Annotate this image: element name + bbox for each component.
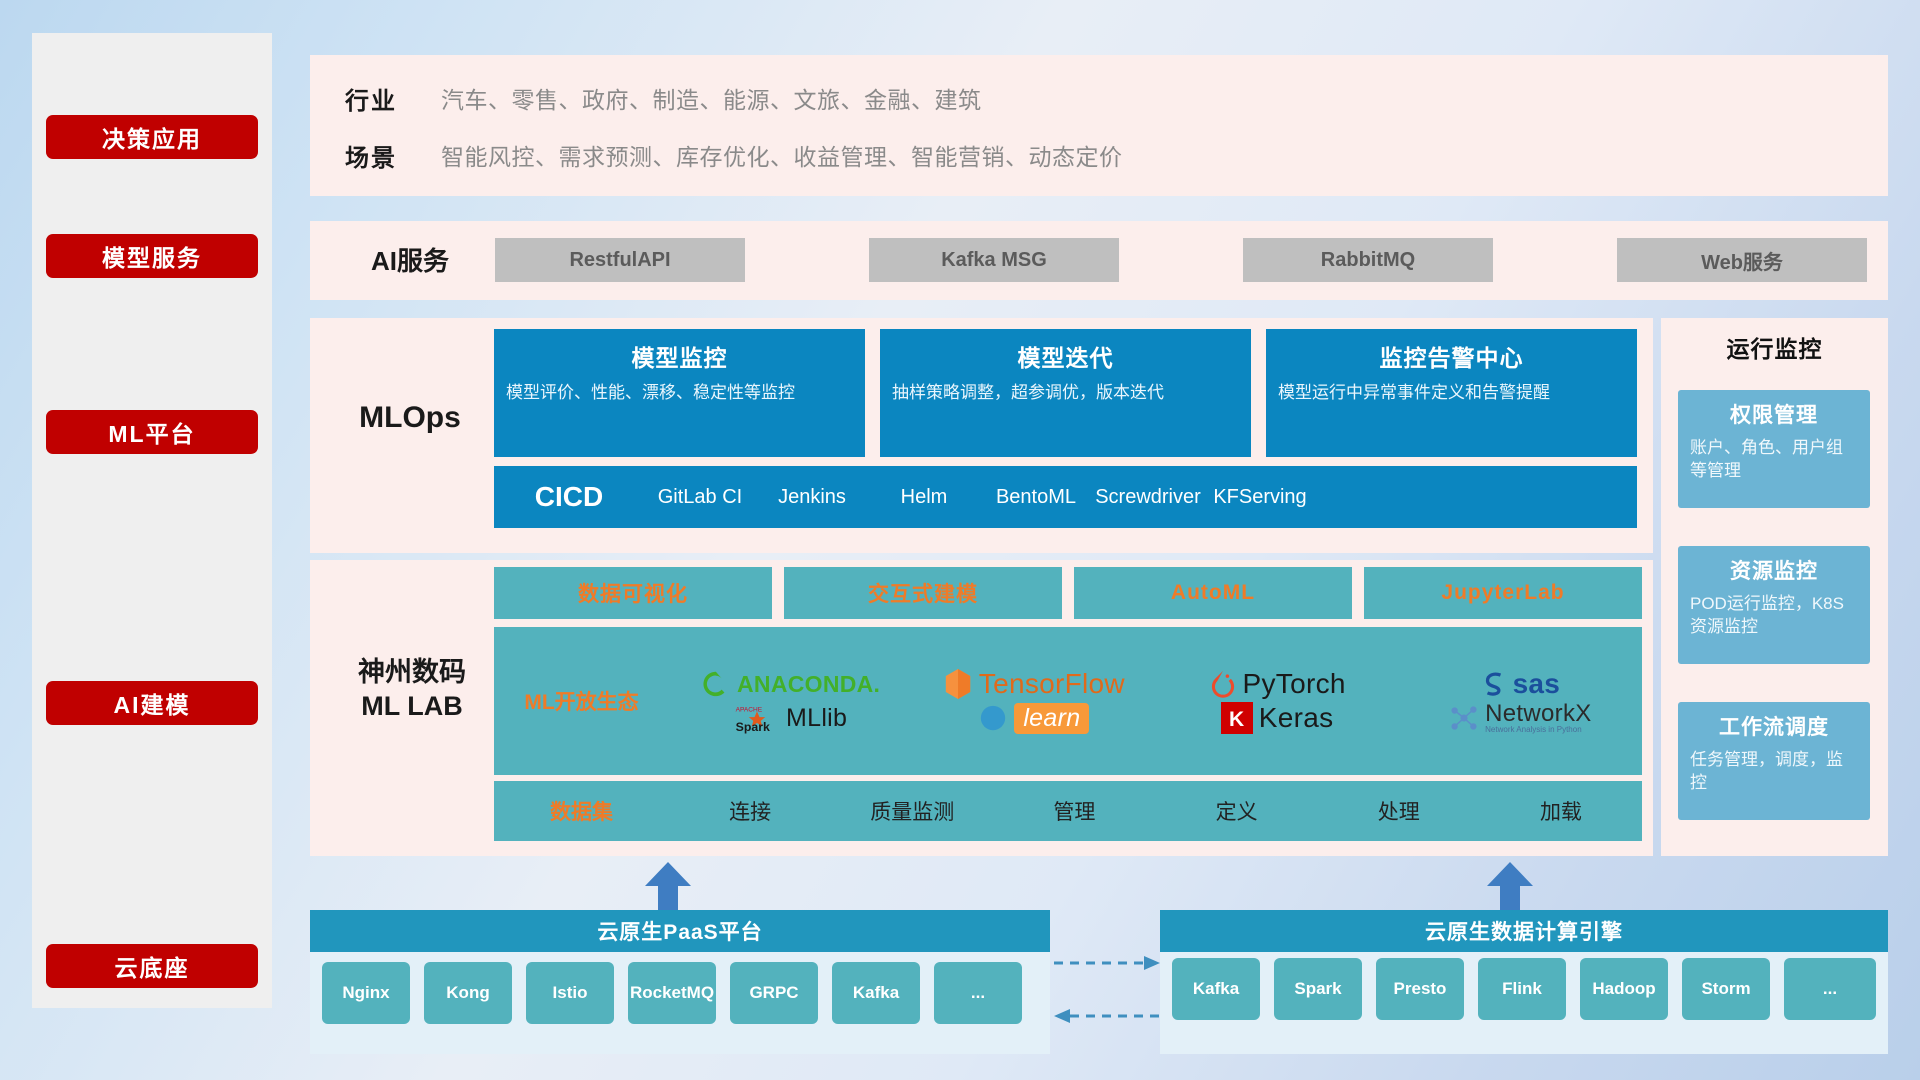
card-title: 模型监控 — [506, 339, 853, 373]
card-desc: 抽样策略调整，超参调优，版本迭代 — [892, 382, 1239, 405]
tier-label: AI建模 — [114, 686, 191, 720]
cube-label: Flink — [1502, 980, 1542, 998]
cube-label: Kong — [446, 984, 489, 1002]
mlops-card-alert-center[interactable]: 监控告警中心 模型运行中异常事件定义和告警提醒 — [1266, 329, 1637, 457]
tier-label: ML平台 — [108, 415, 195, 449]
chip-label: JupyterLab — [1441, 581, 1564, 605]
ai-service-chip-web[interactable]: Web服务 — [1617, 238, 1867, 282]
engine-cube-more[interactable]: ... — [1784, 958, 1876, 1020]
svg-text:APACHE: APACHE — [736, 706, 763, 713]
paas-cube-kafka[interactable]: Kafka — [832, 962, 920, 1024]
arrow-up-engine-icon — [1487, 862, 1533, 914]
monitoring-card-workflow[interactable]: 工作流调度 任务管理，调度，监控 — [1678, 702, 1870, 820]
cube-label: GRPC — [749, 984, 798, 1002]
logo-grid: ANACONDA. TensorFlow PyTorch — [669, 667, 1642, 735]
engine-cube-spark[interactable]: Spark — [1274, 958, 1362, 1020]
tier-chip-decision[interactable]: 决策应用 — [46, 115, 258, 159]
monitoring-title: 运行监控 — [1661, 330, 1888, 364]
diagram-canvas: 决策应用 模型服务 ML平台 AI建模 云底座 行业 汽车、零售、政府、制造、能… — [0, 0, 1920, 1080]
monitoring-card-permissions[interactable]: 权限管理 账户、角色、用户组等管理 — [1678, 390, 1870, 508]
networkx-logo: NetworkX Network Analysis in Python — [1399, 702, 1642, 734]
dataset-item-load[interactable]: 加载 — [1480, 796, 1642, 826]
paas-cube-istio[interactable]: Istio — [526, 962, 614, 1024]
card-title: 权限管理 — [1690, 399, 1858, 429]
pytorch-logo: PyTorch — [1156, 668, 1399, 700]
mlops-card-model-iteration[interactable]: 模型迭代 抽样策略调整，超参调优，版本迭代 — [880, 329, 1251, 457]
chip-label: 交互式建模 — [868, 578, 978, 608]
svg-text:K: K — [1229, 708, 1244, 731]
card-desc: 任务管理，调度，监控 — [1690, 749, 1858, 795]
tier-chip-ml-platform[interactable]: ML平台 — [46, 410, 258, 454]
ml-ecosystem-panel: ML开放生态 ANACONDA. TensorFlow — [494, 627, 1642, 775]
tensorflow-logo: TensorFlow — [912, 668, 1155, 700]
engine-cube-flink[interactable]: Flink — [1478, 958, 1566, 1020]
keras-logo: K Keras — [1156, 702, 1399, 734]
tool-chip-automl[interactable]: AutoML — [1074, 567, 1352, 619]
networkx-tagline: Network Analysis in Python — [1485, 726, 1591, 734]
scikit-learn-logo: learn — [912, 703, 1155, 734]
cube-label: Hadoop — [1592, 980, 1655, 998]
card-desc: 账户、角色、用户组等管理 — [1690, 437, 1858, 483]
cicd-item-helm[interactable]: Helm — [868, 487, 980, 507]
pytorch-mark-icon — [1209, 669, 1237, 699]
dataset-label: 数据集 — [494, 796, 669, 826]
cicd-item-jenkins[interactable]: Jenkins — [756, 487, 868, 507]
logo-text: NetworkX — [1485, 702, 1591, 726]
cicd-label: CICD — [494, 481, 644, 513]
card-title: 监控告警中心 — [1278, 339, 1625, 373]
card-title: 模型迭代 — [892, 339, 1239, 373]
mlops-card-model-monitoring[interactable]: 模型监控 模型评价、性能、漂移、稳定性等监控 — [494, 329, 865, 457]
paas-header: 云原生PaaS平台 — [310, 910, 1050, 952]
dashed-arrow-left-icon — [1052, 1005, 1162, 1027]
business-key: 行业 — [345, 81, 441, 116]
scikit-mark-icon — [978, 703, 1008, 733]
paas-cube-grpc[interactable]: GRPC — [730, 962, 818, 1024]
chip-label: RestfulAPI — [569, 249, 670, 272]
arrow-up-paas-icon — [645, 862, 691, 914]
logo-text: Keras — [1259, 702, 1334, 734]
chip-label: Kafka MSG — [941, 249, 1047, 272]
cicd-item-gitlab-ci[interactable]: GitLab CI — [644, 487, 756, 507]
spark-mark-icon: APACHE Spark — [734, 701, 780, 735]
tool-chip-interactive-modeling[interactable]: 交互式建模 — [784, 567, 1062, 619]
keras-mark-icon: K — [1221, 702, 1253, 734]
business-key: 场景 — [345, 138, 441, 173]
ai-service-chip-restfulapi[interactable]: RestfulAPI — [495, 238, 745, 282]
card-title: 资源监控 — [1690, 555, 1858, 585]
tool-chip-data-visualization[interactable]: 数据可视化 — [494, 567, 772, 619]
card-title: 工作流调度 — [1690, 711, 1858, 741]
tier-label: 决策应用 — [102, 120, 202, 154]
tier-chip-cloud-base[interactable]: 云底座 — [46, 944, 258, 988]
cube-label: Presto — [1394, 980, 1447, 998]
chip-label: Web服务 — [1701, 246, 1783, 275]
card-desc: POD运行监控，K8S资源监控 — [1690, 593, 1858, 639]
monitoring-card-resources[interactable]: 资源监控 POD运行监控，K8S资源监控 — [1678, 546, 1870, 664]
cicd-item-bentoml[interactable]: BentoML — [980, 487, 1092, 507]
paas-cube-rocketmq[interactable]: RocketMQ — [628, 962, 716, 1024]
paas-title: 云原生PaaS平台 — [597, 916, 762, 946]
sas-mark-icon — [1481, 670, 1507, 698]
dataset-item-process[interactable]: 处理 — [1318, 796, 1480, 826]
logo-text: learn — [1014, 703, 1089, 734]
ai-service-chip-rabbitmq[interactable]: RabbitMQ — [1243, 238, 1493, 282]
card-desc: 模型评价、性能、漂移、稳定性等监控 — [506, 382, 853, 405]
tier-label: 模型服务 — [102, 239, 202, 273]
paas-cube-more[interactable]: ... — [934, 962, 1022, 1024]
logo-text: ANACONDA. — [737, 671, 880, 698]
cicd-item-kfserving[interactable]: KFServing — [1204, 487, 1316, 507]
engine-cube-kafka[interactable]: Kafka — [1172, 958, 1260, 1020]
ai-service-label: AI服务 — [330, 238, 490, 284]
mlops-label: MLOps — [330, 395, 490, 441]
tier-chip-ai-modeling[interactable]: AI建模 — [46, 681, 258, 725]
dataset-item-define[interactable]: 定义 — [1156, 796, 1318, 826]
logo-text: PyTorch — [1243, 668, 1346, 700]
chip-label: AutoML — [1171, 581, 1255, 605]
tensorflow-mark-icon — [943, 668, 973, 700]
engine-cube-storm[interactable]: Storm — [1682, 958, 1770, 1020]
business-row-industry: 行业 汽车、零售、政府、制造、能源、文旅、金融、建筑 — [345, 76, 1845, 120]
tool-chip-jupyterlab[interactable]: JupyterLab — [1364, 567, 1642, 619]
tier-label: 云底座 — [115, 949, 190, 983]
networkx-mark-icon — [1449, 703, 1479, 733]
spark-mllib-logo: APACHE Spark MLlib — [669, 701, 912, 735]
chip-label: RabbitMQ — [1321, 249, 1415, 272]
ml-ecosystem-label: ML开放生态 — [494, 686, 669, 716]
dataset-row: 数据集 连接 质量监测 管理 定义 处理 加载 — [494, 781, 1642, 841]
engine-cube-hadoop[interactable]: Hadoop — [1580, 958, 1668, 1020]
business-value: 汽车、零售、政府、制造、能源、文旅、金融、建筑 — [441, 81, 982, 115]
modeling-label-line2: ML LAB — [361, 690, 463, 724]
sas-logo: sas — [1399, 668, 1642, 700]
anaconda-mark-icon — [701, 669, 731, 699]
tier-chip-model-service[interactable]: 模型服务 — [46, 234, 258, 278]
cube-label: Kafka — [853, 984, 899, 1002]
tier-rail — [32, 33, 272, 1008]
paas-cube-kong[interactable]: Kong — [424, 962, 512, 1024]
dataset-item-quality-monitor[interactable]: 质量监测 — [831, 796, 993, 826]
anaconda-logo: ANACONDA. — [669, 669, 912, 699]
cube-label: Spark — [1294, 980, 1341, 998]
paas-cube-nginx[interactable]: Nginx — [322, 962, 410, 1024]
ai-service-chip-kafka-msg[interactable]: Kafka MSG — [869, 238, 1119, 282]
engine-title: 云原生数据计算引擎 — [1425, 916, 1623, 946]
modeling-label-line1: 神州数码 — [358, 656, 466, 690]
cube-label: ... — [971, 984, 985, 1002]
card-desc: 模型运行中异常事件定义和告警提醒 — [1278, 382, 1625, 405]
cicd-row[interactable]: CICD GitLab CI Jenkins Helm BentoML Scre… — [494, 466, 1637, 528]
logo-text: TensorFlow — [979, 668, 1125, 700]
chip-label: 数据可视化 — [578, 578, 688, 608]
engine-cube-presto[interactable]: Presto — [1376, 958, 1464, 1020]
dashed-arrow-right-icon — [1052, 952, 1162, 974]
logo-text: MLlib — [786, 704, 847, 733]
logo-text: sas — [1513, 668, 1561, 700]
modeling-label: 神州数码 ML LAB — [322, 655, 502, 725]
svg-text:Spark: Spark — [736, 720, 770, 734]
dataset-item-manage[interactable]: 管理 — [993, 796, 1155, 826]
dataset-item-connect[interactable]: 连接 — [669, 796, 831, 826]
cube-label: Storm — [1701, 980, 1750, 998]
cube-label: ... — [1823, 980, 1837, 998]
cube-label: Kafka — [1193, 980, 1239, 998]
business-row-scenario: 场景 智能风控、需求预测、库存优化、收益管理、智能营销、动态定价 — [345, 133, 1845, 177]
cube-label: Nginx — [342, 984, 389, 1002]
cube-label: Istio — [553, 984, 588, 1002]
business-value: 智能风控、需求预测、库存优化、收益管理、智能营销、动态定价 — [441, 138, 1123, 172]
cube-label: RocketMQ — [630, 984, 714, 1002]
cicd-item-screwdriver[interactable]: Screwdriver — [1092, 487, 1204, 507]
engine-header: 云原生数据计算引擎 — [1160, 910, 1888, 952]
